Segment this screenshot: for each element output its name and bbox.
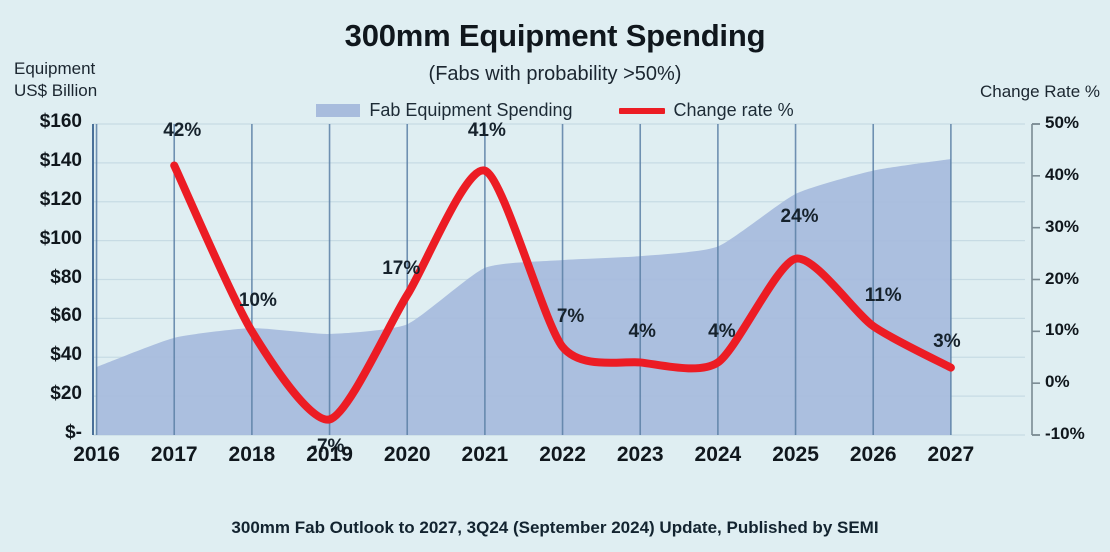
data-label: 41% <box>468 120 506 142</box>
x-axis-tick-label: 2024 <box>695 443 742 467</box>
data-label: 3% <box>933 331 960 353</box>
x-axis-tick-label: 2022 <box>539 443 586 467</box>
x-axis-tick-label: 2027 <box>928 443 975 467</box>
data-label: 42% <box>163 120 201 142</box>
x-axis-tick-label: 2020 <box>384 443 431 467</box>
data-label: 11% <box>865 285 902 307</box>
chart-caption: 300mm Fab Outlook to 2027, 3Q24 (Septemb… <box>0 518 1110 538</box>
x-axis-tick-label: 2026 <box>850 443 897 467</box>
chart-root: 300mm Equipment Spending (Fabs with prob… <box>0 0 1110 552</box>
data-label: 17% <box>382 258 420 280</box>
data-label: 24% <box>781 206 819 228</box>
x-axis-tick-label: 2019 <box>306 443 353 467</box>
data-label: 4% <box>628 321 655 343</box>
data-label: 4% <box>708 321 735 343</box>
x-axis-tick-label: 2023 <box>617 443 664 467</box>
x-axis-ticks: 2016201720182019202020212022202320242025… <box>93 443 1025 473</box>
x-axis-tick-label: 2017 <box>151 443 198 467</box>
x-axis-tick-label: 2018 <box>229 443 276 467</box>
x-axis-tick-label: 2025 <box>772 443 819 467</box>
x-axis-tick-label: 2021 <box>462 443 509 467</box>
data-label: 7% <box>557 306 584 328</box>
data-label: 10% <box>239 290 277 312</box>
x-axis-tick-label: 2016 <box>73 443 120 467</box>
